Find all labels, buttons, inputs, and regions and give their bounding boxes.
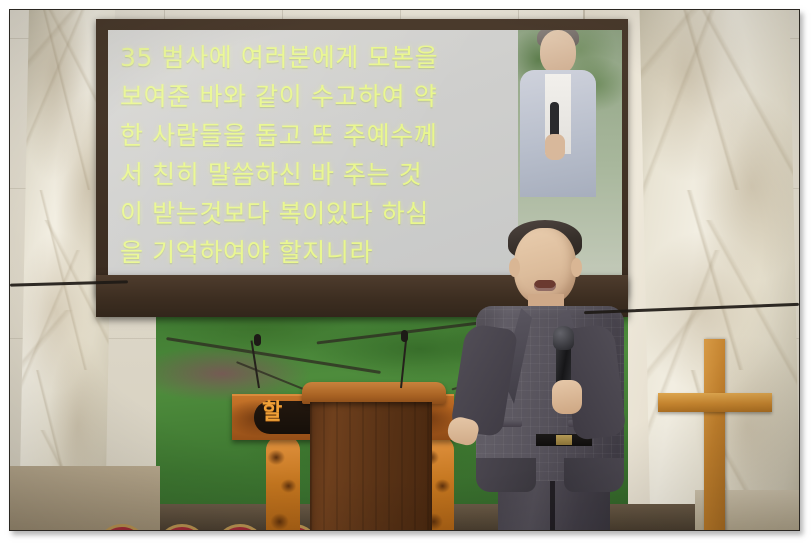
speaker-ear-left [509, 258, 520, 277]
floor-tiles-left [10, 466, 160, 530]
speaker-hand-holding-mic [552, 380, 582, 414]
speaker-trouser-seam [550, 478, 555, 531]
speaker-ear-right [571, 258, 582, 277]
cross-horizontal-beam [658, 393, 772, 412]
gooseneck-mic-head-right [401, 330, 408, 342]
photo-frame: 35 범사에 여러분에게 모본을 보여준 바와 같이 수고하여 약 한 사람들을… [0, 0, 812, 545]
sanctuary-photograph: 35 범사에 여러분에게 모본을 보여준 바와 같이 수고하여 약 한 사람들을… [9, 9, 800, 531]
speaker-preacher [440, 222, 650, 531]
podium-banner-char-left: 할 [262, 400, 282, 425]
podium-leg-left [266, 436, 300, 531]
podium-front-panel [310, 402, 432, 531]
video-speaker-head [540, 30, 576, 74]
wooden-cross [658, 339, 778, 531]
video-speaker-hand [545, 134, 565, 160]
handheld-microphone-head [553, 326, 574, 350]
speaker-jacket-hem-left [476, 458, 536, 492]
speaker-mouth [534, 280, 556, 291]
speaker-jacket-hem-right [564, 458, 624, 492]
wooden-podium: 할 면 [232, 382, 454, 531]
speaker-head [514, 228, 576, 304]
speaker-belt-buckle [556, 435, 572, 445]
cross-vertical-beam [704, 339, 725, 531]
podium-top-surface [302, 382, 446, 404]
gooseneck-mic-head-left [254, 334, 261, 346]
mural-branch [167, 337, 382, 374]
